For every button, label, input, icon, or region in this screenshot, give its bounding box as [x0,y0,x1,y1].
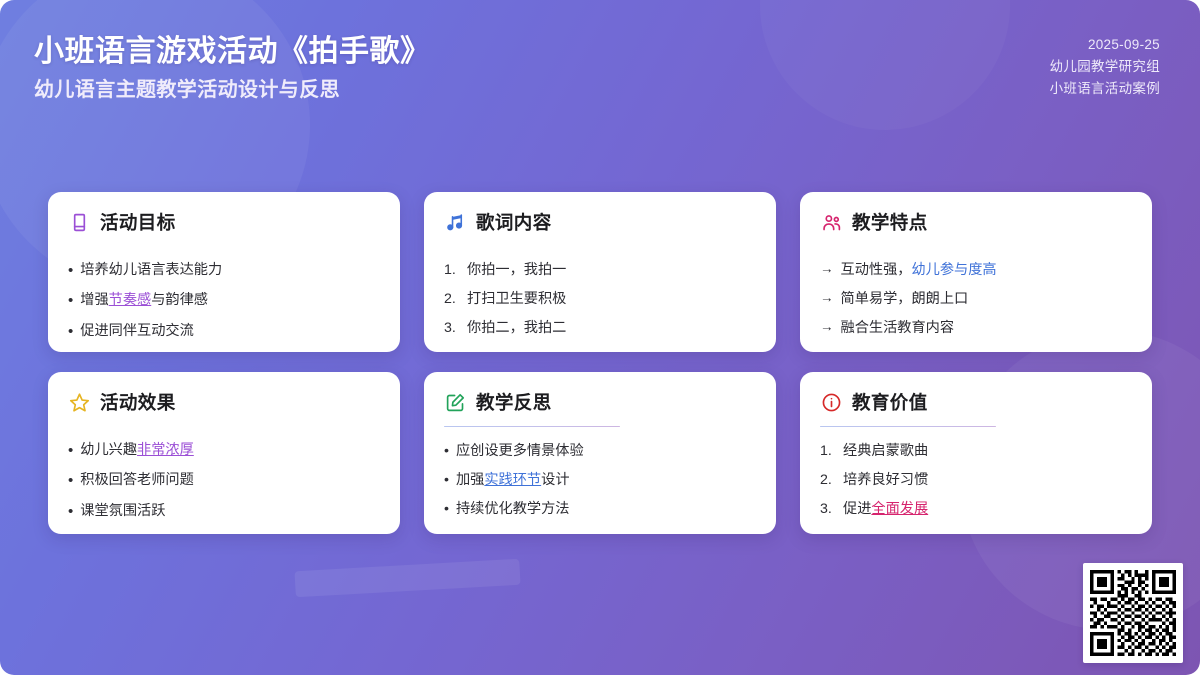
list-item-text: 融合生活教育内容 [841,317,1133,339]
card-body: •应创设更多情景体验•加强实践环节设计•持续优化教学方法 [444,440,756,520]
text-run: 你拍一，我拍一 [467,262,566,278]
card-header: 教育价值 [820,389,1132,415]
highlighted-term[interactable]: 全面发展 [871,501,928,517]
list-marker: 3. [444,317,460,339]
card-6: 教育价值1.经典启蒙歌曲2.培养良好习惯3.促进全面发展 [800,372,1152,534]
list-item: →融合生活教育内容 [820,317,1132,339]
list-item-text: 增强节奏感与韵律感 [80,289,380,311]
text-run: 应创设更多情景体验 [456,443,584,459]
list-item: •加强实践环节设计 [444,469,756,491]
card-body: •培养幼儿语言表达能力•增强节奏感与韵律感•促进同伴互动交流 [68,259,380,343]
list-item-text: 持续优化教学方法 [456,498,756,520]
card-grid: 活动目标•培养幼儿语言表达能力•增强节奏感与韵律感•促进同伴互动交流 歌词内容1… [48,192,1152,534]
text-run: 促进 [843,501,871,517]
card-title: 教育价值 [852,389,928,415]
page-title: 小班语言游戏活动《拍手歌》 [34,32,431,71]
page-subtitle: 幼儿语言主题教学活动设计与反思 [34,77,431,104]
qr-code[interactable] [1083,563,1183,663]
list-item: 1.你拍一，我拍一 [444,259,756,281]
text-run: 积极回答老师问题 [80,472,194,488]
list-item: 2.打扫卫生要积极 [444,288,756,310]
card-body: •幼儿兴趣非常浓厚•积极回答老师问题•课堂氛围活跃 [68,439,380,523]
list-item: •持续优化教学方法 [444,498,756,520]
list-marker: 1. [820,440,836,462]
meta-date: 2025-09-25 [1050,34,1160,56]
list-item: 3.你拍二，我拍二 [444,317,756,339]
list-item: →互动性强，幼儿参与度高 [820,259,1132,281]
list-marker: 3. [820,498,836,520]
card-body: →互动性强，幼儿参与度高→简单易学，朗朗上口→融合生活教育内容 [820,259,1132,339]
list-item: •促进同伴互动交流 [68,320,380,343]
edit-square-icon [444,391,466,413]
text-run: 培养良好习惯 [843,472,928,488]
list-item: 3.促进全面发展 [820,498,1132,520]
list-item-text: 你拍一，我拍一 [467,259,756,281]
users-icon [820,211,842,233]
card-title: 教学反思 [476,389,552,415]
card-body: 1.经典启蒙歌曲2.培养良好习惯3.促进全面发展 [820,440,1132,520]
list-item-text: 培养良好习惯 [843,469,1132,491]
card-header: 歌词内容 [444,209,756,235]
slide-header: 小班语言游戏活动《拍手歌》 幼儿语言主题教学活动设计与反思 2025-09-25… [0,0,1200,130]
list-marker: → [820,259,834,280]
title-block: 小班语言游戏活动《拍手歌》 幼儿语言主题教学活动设计与反思 [34,24,431,104]
list-item-text: 应创设更多情景体验 [456,440,756,462]
card-header: 活动效果 [68,389,380,415]
text-run: 课堂氛围活跃 [80,503,165,519]
list-marker: • [68,469,73,492]
meta-category: 小班语言活动案例 [1050,78,1160,100]
list-item: 2.培养良好习惯 [820,469,1132,491]
list-marker: 2. [444,288,460,310]
list-item-text: 简单易学，朗朗上口 [841,288,1133,310]
card-body: 1.你拍一，我拍一2.打扫卫生要积极3.你拍二，我拍二 [444,259,756,339]
decorative-bar [294,559,520,598]
list-item-text: 促进同伴互动交流 [80,320,380,342]
list-marker: → [820,288,834,309]
list-item-text: 经典启蒙歌曲 [843,440,1132,462]
star-icon [68,391,90,413]
list-item: 1.经典启蒙歌曲 [820,440,1132,462]
list-item-text: 互动性强，幼儿参与度高 [841,259,1133,281]
list-marker: • [68,439,73,462]
list-marker: • [444,440,449,462]
accent-bar [820,426,996,427]
text-run: 促进同伴互动交流 [80,323,194,339]
info-circle-icon [820,391,842,413]
text-run: 经典启蒙歌曲 [843,443,928,459]
list-item-text: 加强实践环节设计 [456,469,756,491]
highlighted-term[interactable]: 非常浓厚 [137,442,194,458]
list-item: →简单易学，朗朗上口 [820,288,1132,310]
text-run: 设计 [541,472,569,488]
slide-canvas: 小班语言游戏活动《拍手歌》 幼儿语言主题教学活动设计与反思 2025-09-25… [0,0,1200,675]
list-item-text: 课堂氛围活跃 [80,500,380,522]
book-icon [68,211,90,233]
list-item-text: 促进全面发展 [843,498,1132,520]
card-4: 活动效果•幼儿兴趣非常浓厚•积极回答老师问题•课堂氛围活跃 [48,372,400,534]
card-3: 教学特点→互动性强，幼儿参与度高→简单易学，朗朗上口→融合生活教育内容 [800,192,1152,352]
list-item-text: 积极回答老师问题 [80,469,380,491]
list-marker: • [444,498,449,520]
card-1: 活动目标•培养幼儿语言表达能力•增强节奏感与韵律感•促进同伴互动交流 [48,192,400,352]
list-marker: 1. [444,259,460,281]
list-marker: 2. [820,469,836,491]
text-run: 互动性强， [841,262,912,278]
card-header: 教学特点 [820,209,1132,235]
list-item-text: 幼儿兴趣非常浓厚 [80,439,380,461]
text-run: 加强 [456,472,484,488]
text-run: 增强 [80,292,108,308]
meta-organization: 幼儿园教学研究组 [1050,56,1160,78]
list-item-text: 打扫卫生要积极 [467,288,756,310]
card-header: 教学反思 [444,389,756,415]
card-title: 歌词内容 [476,209,552,235]
text-run: 幼儿兴趣 [80,442,137,458]
text-run: 与韵律感 [151,292,208,308]
list-marker: → [820,317,834,338]
list-item: •积极回答老师问题 [68,469,380,492]
list-item: •幼儿兴趣非常浓厚 [68,439,380,462]
text-run: 持续优化教学方法 [456,501,570,517]
list-item: •应创设更多情景体验 [444,440,756,462]
card-5: 教学反思•应创设更多情景体验•加强实践环节设计•持续优化教学方法 [424,372,776,534]
list-marker: • [68,320,73,343]
text-run: 培养幼儿语言表达能力 [80,262,222,278]
highlighted-term[interactable]: 节奏感 [109,292,152,308]
list-item-text: 你拍二，我拍二 [467,317,756,339]
list-marker: • [68,259,73,282]
list-marker: • [444,469,449,491]
card-header: 活动目标 [68,209,380,235]
card-title: 活动目标 [100,209,176,235]
music-note-icon [444,211,466,233]
card-title: 教学特点 [852,209,928,235]
list-item-text: 培养幼儿语言表达能力 [80,259,380,281]
list-marker: • [68,500,73,523]
card-2: 歌词内容1.你拍一，我拍一2.打扫卫生要积极3.你拍二，我拍二 [424,192,776,352]
list-item: •增强节奏感与韵律感 [68,289,380,312]
list-marker: • [68,289,73,312]
highlighted-term[interactable]: 实践环节 [484,472,541,488]
emphasis-term: 幼儿参与度高 [911,262,996,278]
accent-bar [444,426,620,427]
header-meta: 2025-09-25 幼儿园教学研究组 小班语言活动案例 [1050,24,1160,100]
card-title: 活动效果 [100,389,176,415]
text-run: 打扫卫生要积极 [467,291,566,307]
list-item: •课堂氛围活跃 [68,500,380,523]
list-item: •培养幼儿语言表达能力 [68,259,380,282]
text-run: 融合生活教育内容 [841,320,955,336]
text-run: 简单易学，朗朗上口 [841,291,969,307]
text-run: 你拍二，我拍二 [467,320,566,336]
